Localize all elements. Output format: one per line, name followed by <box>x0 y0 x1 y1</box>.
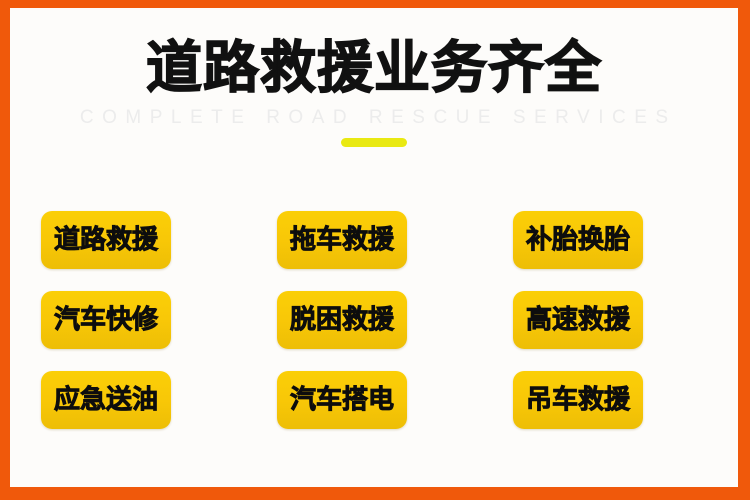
service-chip-label: 拖车救援 <box>290 227 394 253</box>
service-chip-tow-rescue[interactable]: 拖车救援 <box>277 211 407 269</box>
service-chip-label: 吊车救援 <box>526 387 630 413</box>
service-chip-extrication-rescue[interactable]: 脱困救援 <box>277 291 407 349</box>
page-title: 道路救援业务齐全 <box>10 40 738 99</box>
service-chip-jump-start[interactable]: 汽车搭电 <box>277 371 407 429</box>
page-subtitle: COMPLETE ROAD RESCUE SERVICES <box>10 107 738 129</box>
header: 道路救援业务齐全 COMPLETE ROAD RESCUE SERVICES <box>10 8 738 147</box>
title-accent-bar <box>341 138 407 147</box>
service-chip-crane-rescue[interactable]: 吊车救援 <box>513 371 643 429</box>
service-chip-tire-repair-replace[interactable]: 补胎换胎 <box>513 211 643 269</box>
service-chip-label: 汽车快修 <box>54 307 158 333</box>
poster-frame: 道路救援业务齐全 COMPLETE ROAD RESCUE SERVICES 道… <box>0 0 750 500</box>
service-chip-label: 高速救援 <box>526 307 630 333</box>
service-chip-label: 道路救援 <box>54 227 158 253</box>
service-chip-emergency-fuel-delivery[interactable]: 应急送油 <box>41 371 171 429</box>
service-chip-grid: 道路救援 拖车救援 补胎换胎 汽车快修 脱困救援 高速救援 应急送油 汽车搭电 <box>41 211 673 429</box>
service-chip-highway-rescue[interactable]: 高速救援 <box>513 291 643 349</box>
service-chip-quick-car-repair[interactable]: 汽车快修 <box>41 291 171 349</box>
service-chip-road-rescue[interactable]: 道路救援 <box>41 211 171 269</box>
service-chip-label: 应急送油 <box>54 387 158 413</box>
service-chip-label: 脱困救援 <box>290 307 394 333</box>
service-chip-label: 汽车搭电 <box>290 387 394 413</box>
poster-canvas: 道路救援业务齐全 COMPLETE ROAD RESCUE SERVICES 道… <box>10 8 738 487</box>
service-chip-label: 补胎换胎 <box>526 227 630 253</box>
